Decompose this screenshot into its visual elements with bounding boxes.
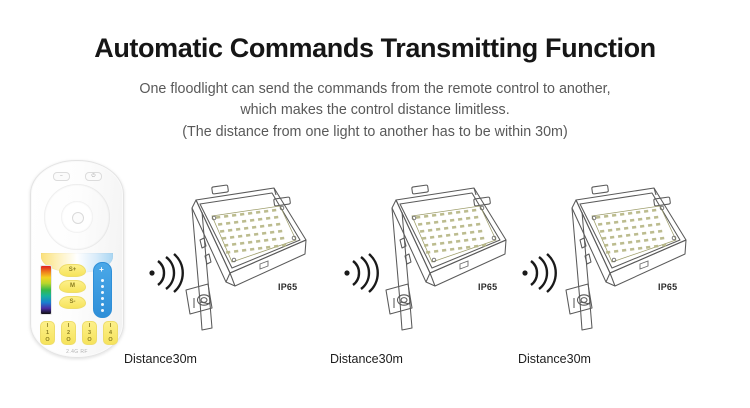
header: Automatic Commands Transmitting Function… xyxy=(0,0,750,144)
remote-control[interactable]: − ⏻ S+ M S- + I 1 O I 2 O xyxy=(30,160,124,358)
power-on-button[interactable]: ⏻ xyxy=(85,172,102,181)
zone-on-label: I xyxy=(62,323,75,330)
diagram-stage: − ⏻ S+ M S- + I 1 O I 2 O xyxy=(0,152,750,408)
brightness-dot xyxy=(101,297,104,300)
floodlight-1: IP65 xyxy=(178,178,318,338)
zone-off-label: O xyxy=(83,337,96,344)
subtitle: One floodlight can send the commands fro… xyxy=(0,64,750,144)
zone-2-button[interactable]: I 2 O xyxy=(61,321,76,345)
zone-number-label: 1 xyxy=(41,330,54,337)
zone-number-label: 2 xyxy=(62,330,75,337)
zone-3-button[interactable]: I 3 O xyxy=(82,321,97,345)
brightness-dot xyxy=(101,303,104,306)
ip-rating-label: IP65 xyxy=(478,282,497,292)
subtitle-line-2: which makes the control distance limitle… xyxy=(0,100,750,122)
speed-up-button[interactable]: S+ xyxy=(59,264,86,277)
floodlight-3: IP65 xyxy=(558,178,698,338)
brightness-slider[interactable]: + xyxy=(93,262,112,318)
zone-on-label: I xyxy=(41,323,54,330)
color-wheel-center-button[interactable] xyxy=(72,212,84,224)
hue-strip[interactable] xyxy=(40,265,52,315)
zone-off-label: O xyxy=(104,337,117,344)
page-title: Automatic Commands Transmitting Function xyxy=(0,0,750,64)
brightness-dot xyxy=(101,291,104,294)
distance-label-2: Distance30m xyxy=(330,352,403,366)
zone-number-label: 3 xyxy=(83,330,96,337)
zone-on-label: I xyxy=(83,323,96,330)
zone-on-label: I xyxy=(104,323,117,330)
zone-off-label: O xyxy=(41,337,54,344)
brightness-dot xyxy=(101,279,104,282)
distance-label-3: Distance30m xyxy=(518,352,591,366)
subtitle-line-3: (The distance from one light to another … xyxy=(0,122,750,144)
brightness-dot xyxy=(101,309,104,312)
subtitle-line-1: One floodlight can send the commands fro… xyxy=(0,79,750,101)
ip-rating-label: IP65 xyxy=(278,282,297,292)
ip-rating-label: IP65 xyxy=(658,282,677,292)
brightness-plus-label: + xyxy=(94,266,109,274)
remote-brand-label: 2.4G RF xyxy=(31,349,123,355)
zone-number-label: 4 xyxy=(104,330,117,337)
distance-label-1: Distance30m xyxy=(124,352,197,366)
zone-off-label: O xyxy=(62,337,75,344)
brightness-dot xyxy=(101,285,104,288)
zone-4-button[interactable]: I 4 O xyxy=(103,321,118,345)
color-wheel-inner xyxy=(61,201,93,233)
mode-button[interactable]: M xyxy=(59,280,86,293)
power-off-button[interactable]: − xyxy=(53,172,70,181)
signal-wave-icon xyxy=(521,252,561,294)
color-wheel[interactable] xyxy=(44,184,110,250)
floodlight-2: IP65 xyxy=(378,178,518,338)
zone-1-button[interactable]: I 1 O xyxy=(40,321,55,345)
speed-down-button[interactable]: S- xyxy=(59,296,86,309)
signal-wave-icon xyxy=(343,252,383,294)
